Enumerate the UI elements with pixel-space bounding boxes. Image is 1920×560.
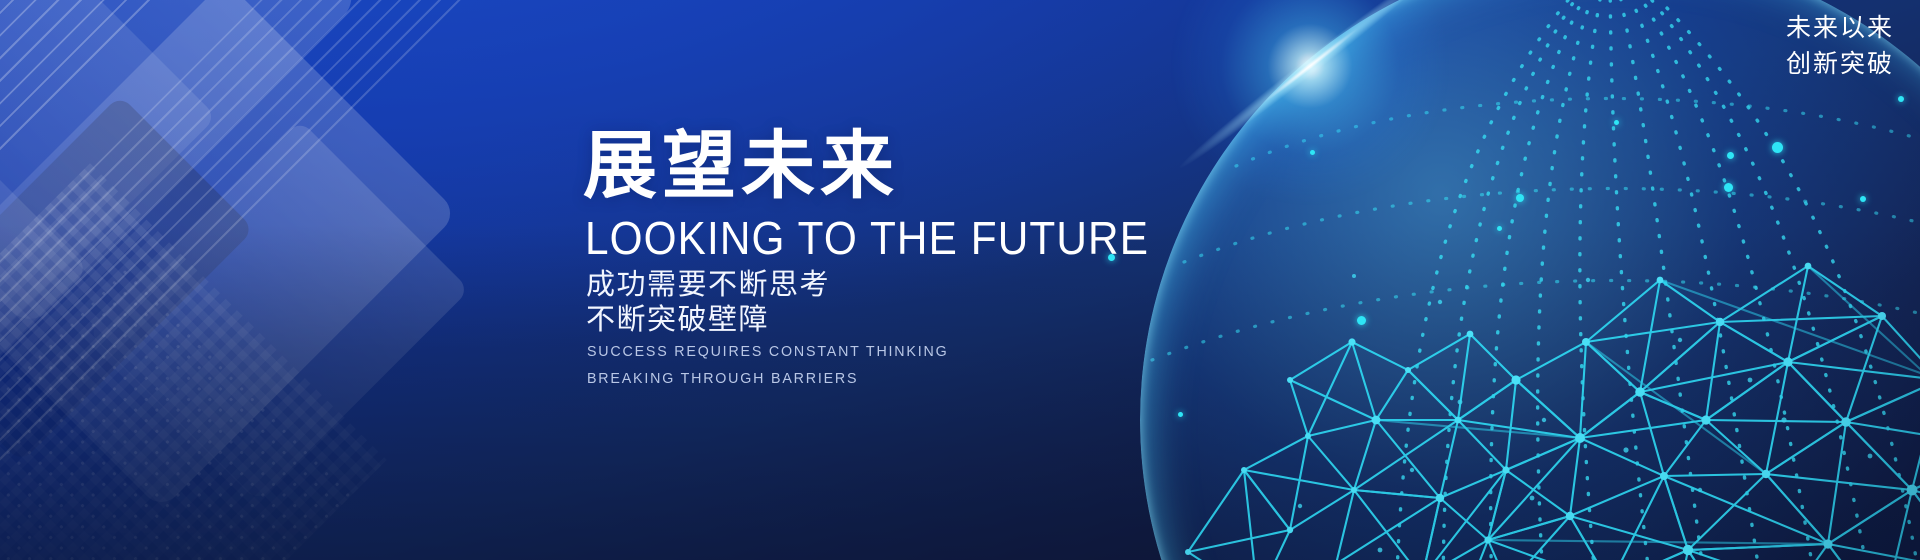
particle-dot <box>1772 142 1783 153</box>
hero-banner: 展望未来 LOOKING TO THE FUTURE 成功需要不断思考 不断突破… <box>0 0 1920 560</box>
particle-dot <box>1357 316 1366 325</box>
corner-slogan: 未来以来 创新突破 <box>1786 10 1894 82</box>
subtitle-english-line-1: SUCCESS REQUIRES CONSTANT THINKING <box>587 338 948 365</box>
particle-dot <box>1898 96 1904 102</box>
page-title: 展望未来 <box>583 129 899 203</box>
subtitle-chinese-line-2: 不断突破壁障 <box>586 303 830 338</box>
particle-dot <box>1178 412 1183 417</box>
subtitle-chinese-line-1: 成功需要不断思考 <box>586 268 830 303</box>
page-title-english: LOOKING TO THE FUTURE <box>585 215 1149 261</box>
corner-slogan-line-1: 未来以来 <box>1786 10 1894 46</box>
particle-dot <box>1727 152 1734 159</box>
particle-dot <box>1724 183 1733 192</box>
bottom-vignette <box>0 0 1920 560</box>
particle-dot <box>1860 196 1866 202</box>
particle-dot <box>1310 150 1315 155</box>
subtitle-chinese: 成功需要不断思考 不断突破壁障 <box>586 268 830 338</box>
particle-dot <box>1614 120 1619 125</box>
particle-dot <box>1516 194 1524 202</box>
subtitle-english-line-2: BREAKING THROUGH BARRIERS <box>587 365 948 392</box>
corner-slogan-line-2: 创新突破 <box>1786 46 1894 82</box>
subtitle-english: SUCCESS REQUIRES CONSTANT THINKING BREAK… <box>587 338 948 392</box>
particle-dot <box>1497 226 1502 231</box>
